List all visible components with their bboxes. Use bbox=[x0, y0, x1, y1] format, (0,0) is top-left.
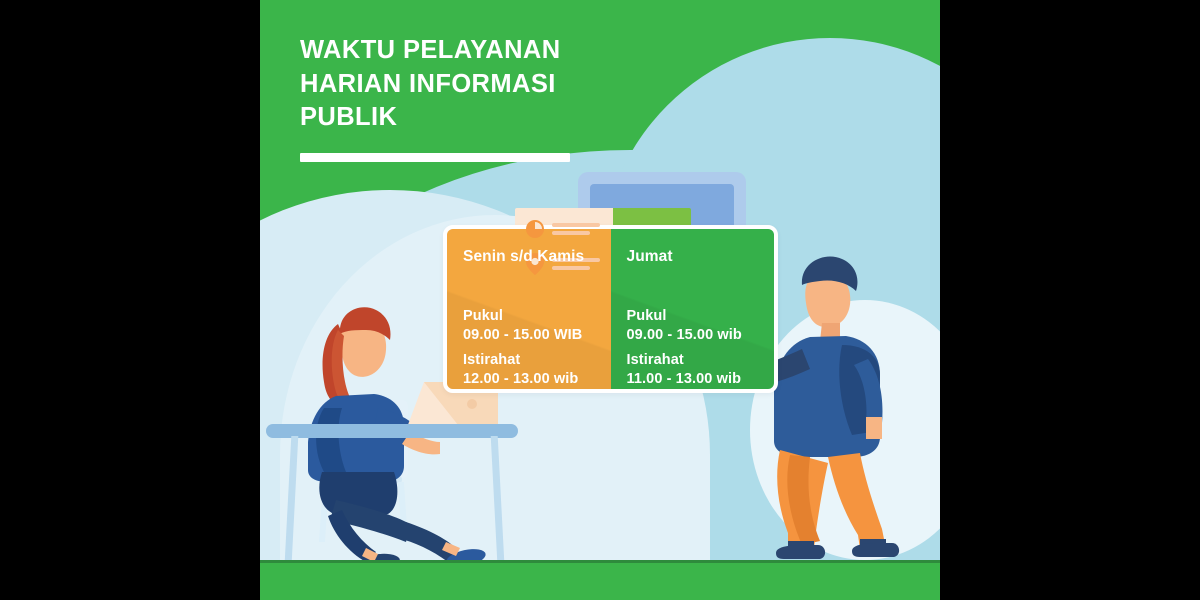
info-row-time bbox=[525, 219, 613, 239]
schedule-break-label-weekday: Istirahat bbox=[463, 351, 611, 370]
screenshot-stage: WAKTU PELAYANAN HARIAN INFORMASI PUBLIK bbox=[0, 0, 1200, 600]
poster-header: WAKTU PELAYANAN HARIAN INFORMASI PUBLIK bbox=[300, 34, 630, 162]
schedule-break-time-friday: 11.00 - 13.00 wib bbox=[627, 370, 775, 389]
schedule-times-friday: Pukul 09.00 - 15.00 wib Istirahat 11.00 … bbox=[627, 307, 775, 390]
letterbox-right bbox=[940, 0, 1200, 600]
schedule-column-friday[interactable]: Jumat Pukul 09.00 - 15.00 wib Istirahat … bbox=[611, 229, 775, 389]
poster-artboard: WAKTU PELAYANAN HARIAN INFORMASI PUBLIK bbox=[260, 0, 940, 600]
schedule-times-weekday: Pukul 09.00 - 15.00 WIB Istirahat 12.00 … bbox=[463, 307, 611, 390]
schedule-open-label-weekday: Pukul bbox=[463, 307, 611, 326]
schedule-card[interactable]: Senin s/d Kamis Pukul 09.00 - 15.00 WIB … bbox=[443, 225, 778, 393]
clock-icon bbox=[525, 219, 545, 239]
schedule-day-label-friday: Jumat bbox=[627, 248, 775, 266]
desk-surface bbox=[266, 424, 518, 438]
floor-strip bbox=[260, 563, 940, 600]
schedule-open-label-friday: Pukul bbox=[627, 307, 775, 326]
schedule-break-label-friday: Istirahat bbox=[627, 351, 775, 370]
letterbox-left bbox=[0, 0, 260, 600]
schedule-open-time-weekday: 09.00 - 15.00 WIB bbox=[463, 326, 611, 345]
schedule-column-weekday[interactable]: Senin s/d Kamis Pukul 09.00 - 15.00 WIB … bbox=[447, 229, 611, 389]
title-underline-rule bbox=[300, 153, 570, 162]
page-title: WAKTU PELAYANAN HARIAN INFORMASI PUBLIK bbox=[300, 34, 630, 135]
schedule-day-label-weekday: Senin s/d Kamis bbox=[463, 248, 611, 266]
schedule-open-time-friday: 09.00 - 15.00 wib bbox=[627, 326, 775, 345]
schedule-break-time-weekday: 12.00 - 13.00 wib bbox=[463, 370, 611, 389]
info-text-lines-time bbox=[552, 223, 600, 235]
